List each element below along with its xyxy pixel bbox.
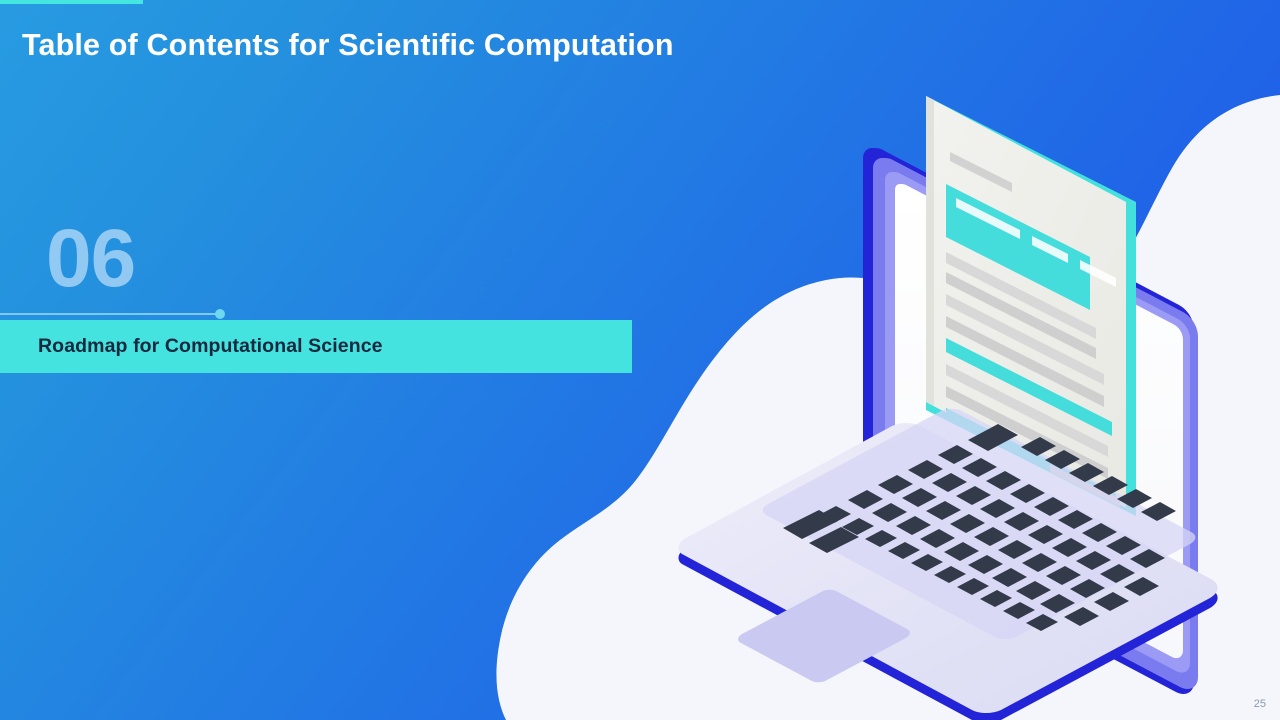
slide-root: Table of Contents for Scientific Computa…: [0, 0, 1280, 720]
connector-line: [0, 313, 221, 315]
laptop-illustration: [620, 80, 1280, 720]
toc-entry-label: Roadmap for Computational Science: [38, 335, 383, 358]
connector-dot: [215, 309, 225, 319]
page-number: 25: [1254, 698, 1266, 710]
top-accent-bar: [0, 0, 143, 4]
page-title: Table of Contents for Scientific Computa…: [22, 28, 674, 63]
toc-entry-band[interactable]: Roadmap for Computational Science: [0, 320, 632, 373]
section-number: 06: [46, 218, 135, 300]
